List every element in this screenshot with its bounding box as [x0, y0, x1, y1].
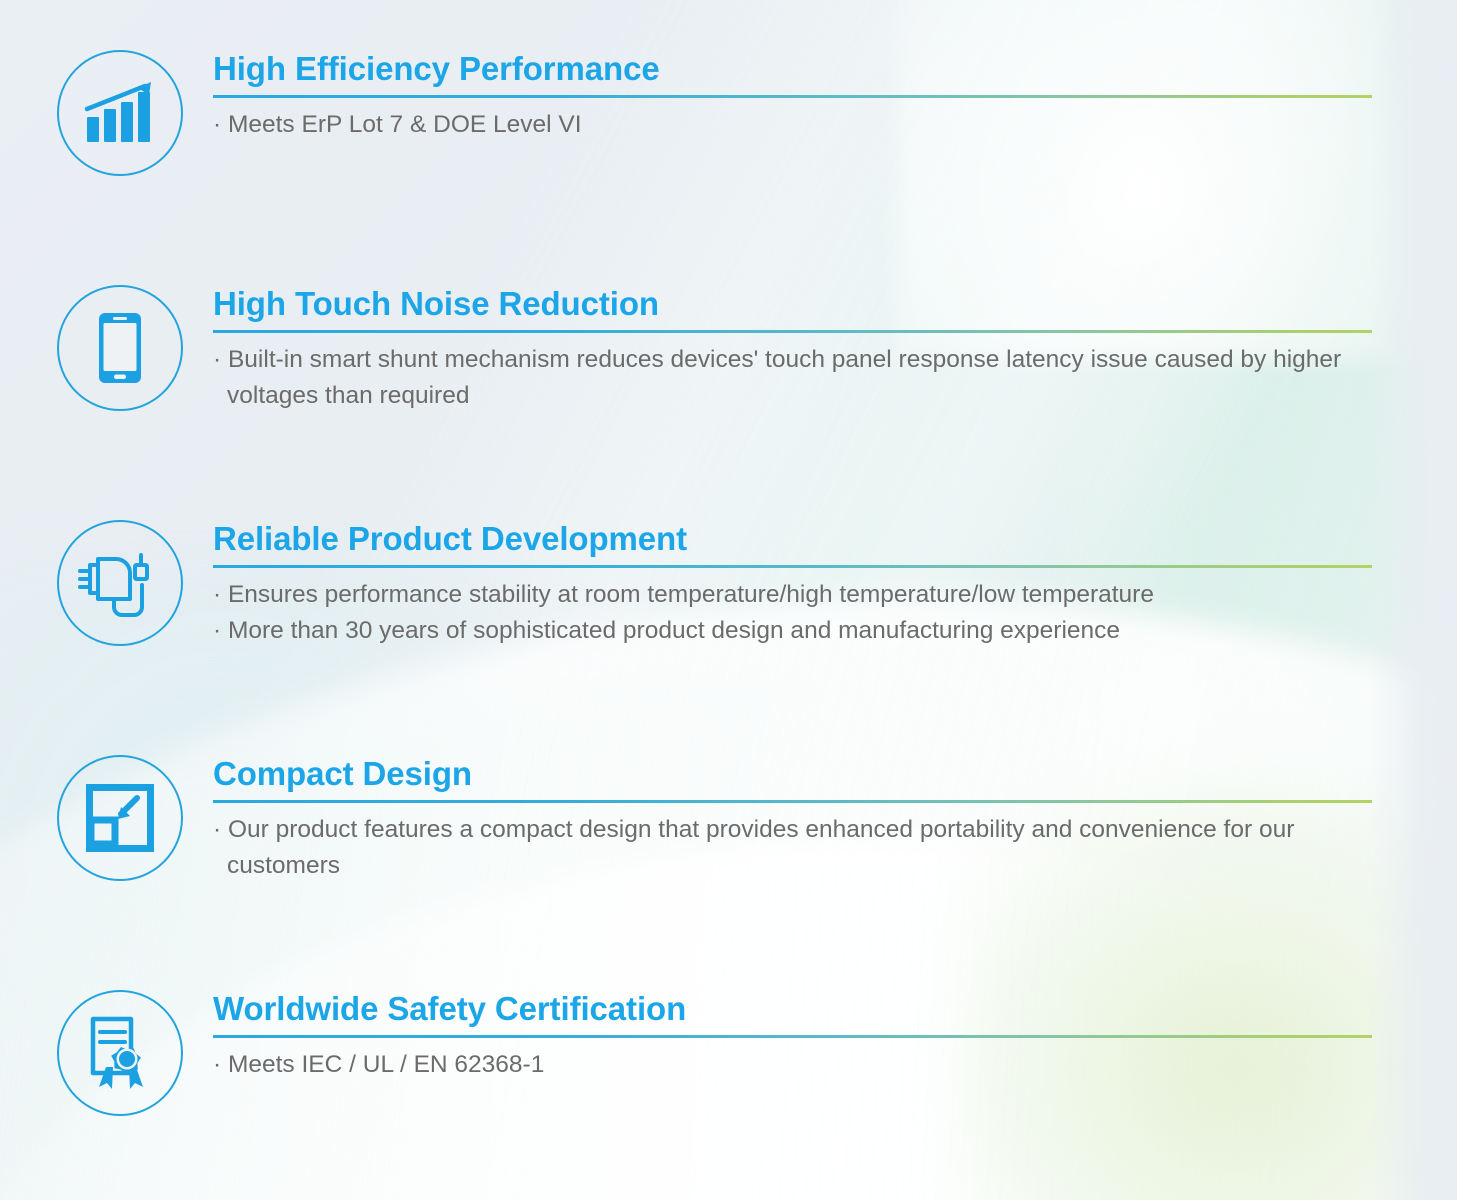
feature-title: Compact Design [213, 755, 1373, 794]
feature-bullet: · Meets IEC / UL / EN 62368-1 [213, 1047, 1373, 1083]
feature-bullets: · Our product features a compact design … [213, 812, 1373, 884]
feature-bullets: · Ensures performance stability at room … [213, 577, 1373, 649]
feature-divider [213, 800, 1372, 803]
feature-title: High Touch Noise Reduction [213, 285, 1373, 324]
feature-title: Worldwide Safety Certification [213, 990, 1373, 1029]
feature-bullet: · Built-in smart shunt mechanism reduces… [213, 342, 1373, 414]
background-bottom-sweep-2 [0, 585, 1457, 1200]
feature-bullet: · More than 30 years of sophisticated pr… [213, 613, 1373, 649]
smartphone-icon [57, 285, 183, 411]
feature-body: High Efficiency Performance · Meets ErP … [213, 50, 1373, 143]
feature-icon-wrap [57, 990, 183, 1116]
feature-body: High Touch Noise Reduction · Built-in sm… [213, 285, 1373, 413]
feature-title: High Efficiency Performance [213, 50, 1373, 89]
feature-body: Compact Design · Our product features a … [213, 755, 1373, 883]
feature-body: Worldwide Safety Certification · Meets I… [213, 990, 1373, 1083]
feature-divider [213, 330, 1372, 333]
feature-bullets: · Built-in smart shunt mechanism reduces… [213, 342, 1373, 414]
feature-icon-wrap [57, 520, 183, 646]
feature-icon-wrap [57, 755, 183, 881]
bar-chart-growth-icon [57, 50, 183, 176]
feature-divider [213, 1035, 1372, 1038]
feature-title: Reliable Product Development [213, 520, 1373, 559]
feature-icon-wrap [57, 285, 183, 411]
feature-bullet: · Our product features a compact design … [213, 812, 1373, 884]
feature-bullets: · Meets ErP Lot 7 & DOE Level VI [213, 107, 1373, 143]
compact-resize-icon [57, 755, 183, 881]
background-right-edge-fade [1367, 0, 1457, 1200]
feature-highlights-page: High Efficiency Performance · Meets ErP … [0, 0, 1457, 1200]
feature-divider [213, 565, 1372, 568]
feature-body: Reliable Product Development · Ensures p… [213, 520, 1373, 648]
feature-bullets: · Meets IEC / UL / EN 62368-1 [213, 1047, 1373, 1083]
feature-bullet: · Ensures performance stability at room … [213, 577, 1373, 613]
certificate-seal-icon [57, 990, 183, 1116]
feature-divider [213, 95, 1372, 98]
feature-icon-wrap [57, 50, 183, 176]
feature-bullet: · Meets ErP Lot 7 & DOE Level VI [213, 107, 1373, 143]
power-adapter-icon [57, 520, 183, 646]
